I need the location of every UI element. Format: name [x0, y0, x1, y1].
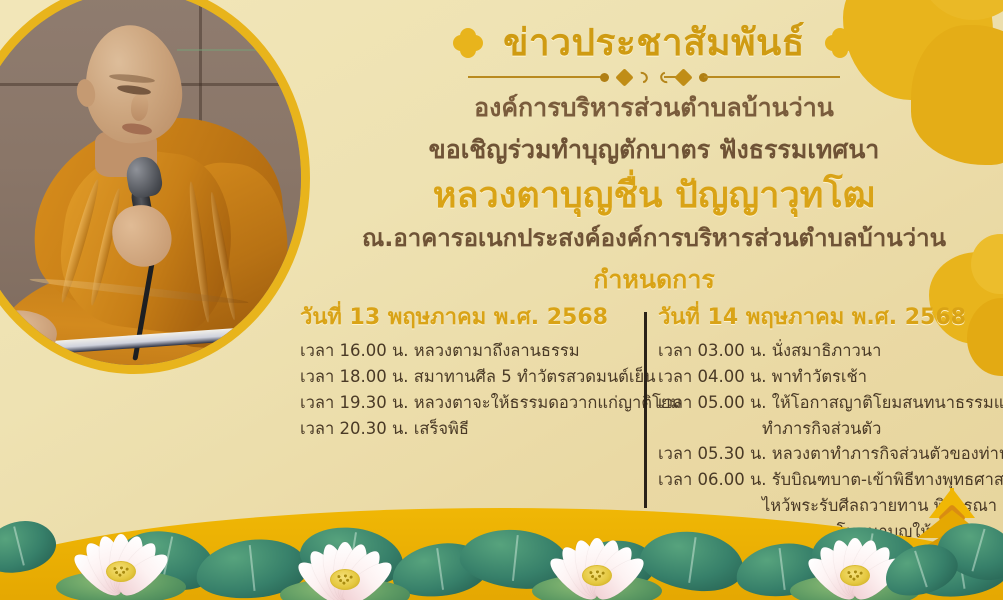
- ornamental-divider: [468, 70, 840, 84]
- lotus-flower: [286, 520, 404, 600]
- invitation-text: ขอเชิญร่วมทำบุญตักบาตร ฟังธรรมเทศนา: [330, 134, 978, 165]
- lotus-flower: [538, 516, 656, 600]
- organization-name: องค์การบริหารส่วนตำบลบ้านว่าน: [330, 92, 978, 123]
- column-divider: [644, 312, 647, 508]
- lotus-decoration-band: [0, 488, 1003, 600]
- schedule-line: เวลา 18.00 น. สมาทานศีล 5 ทำวัตรสวดมนต์เ…: [300, 364, 640, 390]
- schedule-line: เวลา 05.30 น. หลวงตาทำภารกิจส่วนตัวของท่…: [658, 441, 996, 467]
- quatrefoil-ornament-right: [825, 28, 855, 58]
- schedule-column-day-one: วันที่ 13 พฤษภาคม พ.ศ. 2568 เวลา 16.00 น…: [300, 305, 640, 441]
- schedule-line: เวลา 04.00 น. พาทำวัตรเช้า: [658, 364, 996, 390]
- day-two-heading: วันที่ 14 พฤษภาคม พ.ศ. 2568: [658, 305, 996, 331]
- headline-block: ข่าวประชาสัมพันธ์ องค์การบริหารส่วนตำบลบ…: [330, 22, 978, 300]
- schedule-line: เวลา 05.00 น. ให้โอกาสญาติโยมสนทนาธรรมแล…: [658, 390, 996, 416]
- schedule-line: เวลา 20.30 น. เสร็จพิธี: [300, 416, 640, 442]
- schedule-label: กำหนดการ: [330, 260, 978, 300]
- title-row: ข่าวประชาสัมพันธ์: [330, 22, 978, 65]
- page-title: ข่าวประชาสัมพันธ์: [503, 22, 805, 65]
- venue-text: ณ.อาคารอเนกประสงค์องค์การบริหารส่วนตำบลบ…: [330, 223, 978, 253]
- monk-name: หลวงตาบุญชื่น ปัญญาวุทโฒ: [330, 174, 978, 217]
- schedule-line: เวลา 16.00 น. หลวงตามาถึงลานธรรม: [300, 338, 640, 364]
- quatrefoil-ornament-left: [453, 28, 483, 58]
- lotus-flower: [62, 512, 180, 598]
- schedule-line: เวลา 19.30 น. หลวงตาจะให้ธรรมดอวากแก่ญาต…: [300, 390, 640, 416]
- schedule-line: เวลา 03.00 น. นั่งสมาธิภาวนา: [658, 338, 996, 364]
- day-one-heading: วันที่ 13 พฤษภาคม พ.ศ. 2568: [300, 305, 640, 331]
- event-poster: ข่าวประชาสัมพันธ์ องค์การบริหารส่วนตำบลบ…: [0, 0, 1003, 600]
- schedule-line: ทำภารกิจส่วนตัว: [658, 416, 996, 442]
- day-one-lines: เวลา 16.00 น. หลวงตามาถึงลานธรรมเวลา 18.…: [300, 338, 640, 441]
